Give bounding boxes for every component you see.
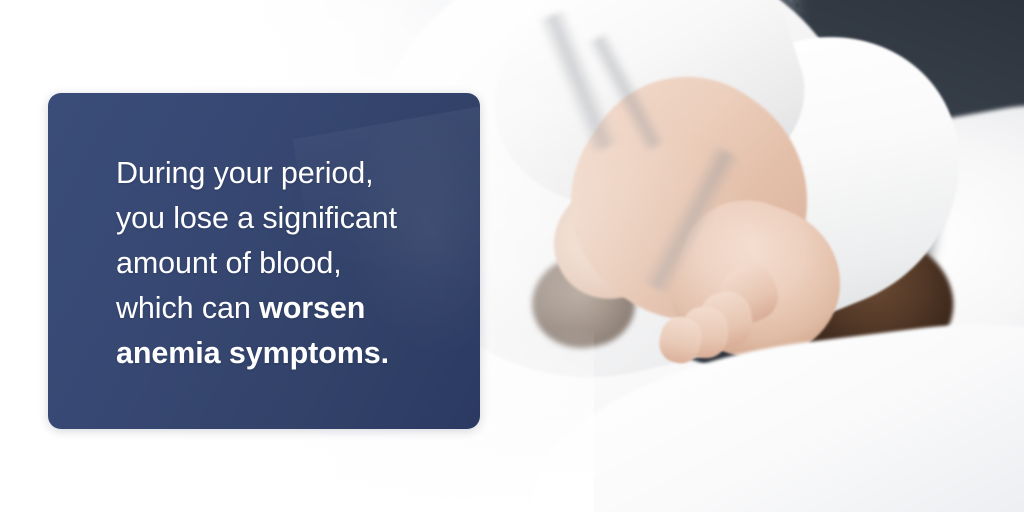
callout-line-2: you lose a significant xyxy=(116,196,480,241)
callout-line-4-emphasis: worsen xyxy=(259,291,365,325)
banner-canvas: During your period, you lose a significa… xyxy=(0,0,1024,512)
callout-line-1: During your period, xyxy=(116,151,480,196)
callout-line-4-regular: which can xyxy=(116,291,259,325)
callout-line-3: amount of blood, xyxy=(116,241,480,286)
callout-text-block: During your period, you lose a significa… xyxy=(48,93,480,376)
callout-line-5: anemia symptoms. xyxy=(116,331,480,376)
callout-line-4: which can worsen xyxy=(116,286,480,331)
callout-card: During your period, you lose a significa… xyxy=(48,93,480,429)
